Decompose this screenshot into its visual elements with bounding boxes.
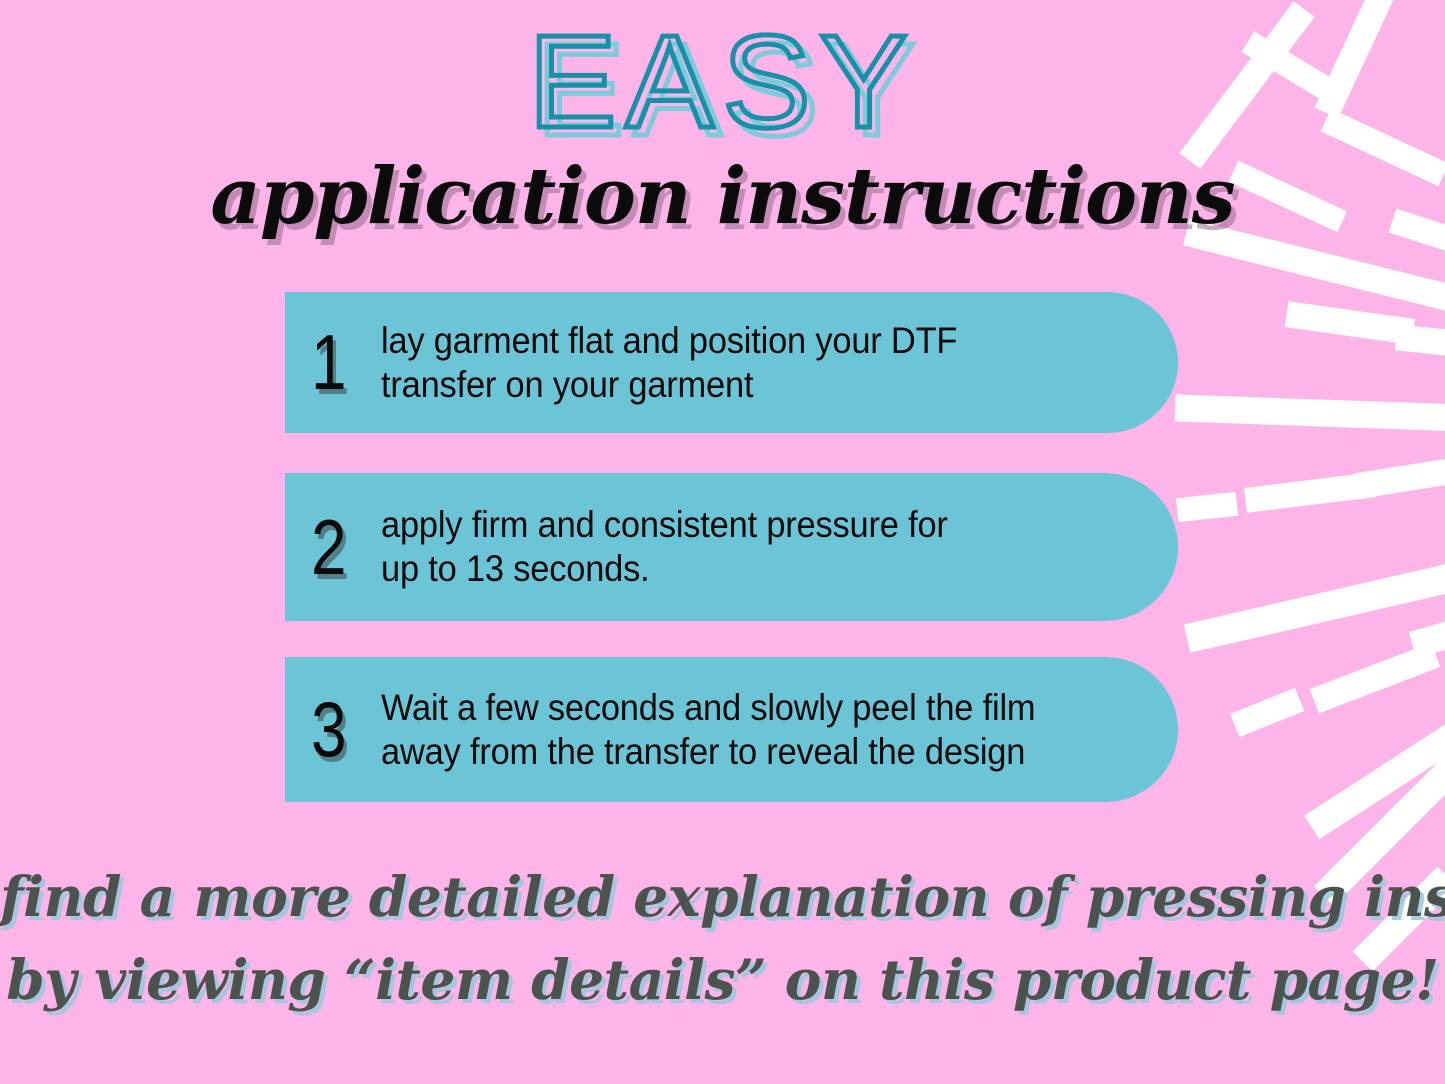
step-number-2: 2 xyxy=(311,510,368,584)
step-text-2: apply firm and consistent pressure for u… xyxy=(381,503,948,590)
step-pill-1: 1 lay garment flat and position your DTF… xyxy=(285,292,1178,433)
step-number-3: 3 xyxy=(311,692,368,766)
step-text-3: Wait a few seconds and slowly peel the f… xyxy=(381,686,1035,773)
ray xyxy=(1175,394,1445,432)
ray xyxy=(1304,669,1445,840)
ray xyxy=(1285,301,1415,345)
footer-line-2: by viewing “item details” on this produc… xyxy=(0,939,1445,1022)
footer-note: find a more detailed explanation of pres… xyxy=(0,856,1445,1021)
headline-subtitle-text: application instructions xyxy=(0,158,1445,236)
ray xyxy=(1230,688,1304,737)
ray xyxy=(1354,457,1445,499)
ray xyxy=(1395,324,1445,361)
footer-line-1: find a more detailed explanation of pres… xyxy=(0,856,1445,939)
ray xyxy=(1184,556,1445,653)
ray xyxy=(1176,492,1238,522)
poster-canvas: EASY EASY application instructions 1 lay… xyxy=(0,0,1445,1084)
ray xyxy=(1244,472,1376,513)
headline-easy-front: EASY xyxy=(528,8,916,155)
ray xyxy=(1409,599,1445,658)
headline-subtitle: application instructions xyxy=(0,158,1445,236)
step-number-1: 1 xyxy=(311,325,368,399)
headline-easy: EASY EASY xyxy=(0,16,1445,166)
ray xyxy=(1310,643,1441,714)
step-pill-3: 3 Wait a few seconds and slowly peel the… xyxy=(285,657,1178,802)
step-text-1: lay garment flat and position your DTF t… xyxy=(381,319,957,406)
step-pill-2: 2 apply firm and consistent pressure for… xyxy=(285,473,1178,621)
